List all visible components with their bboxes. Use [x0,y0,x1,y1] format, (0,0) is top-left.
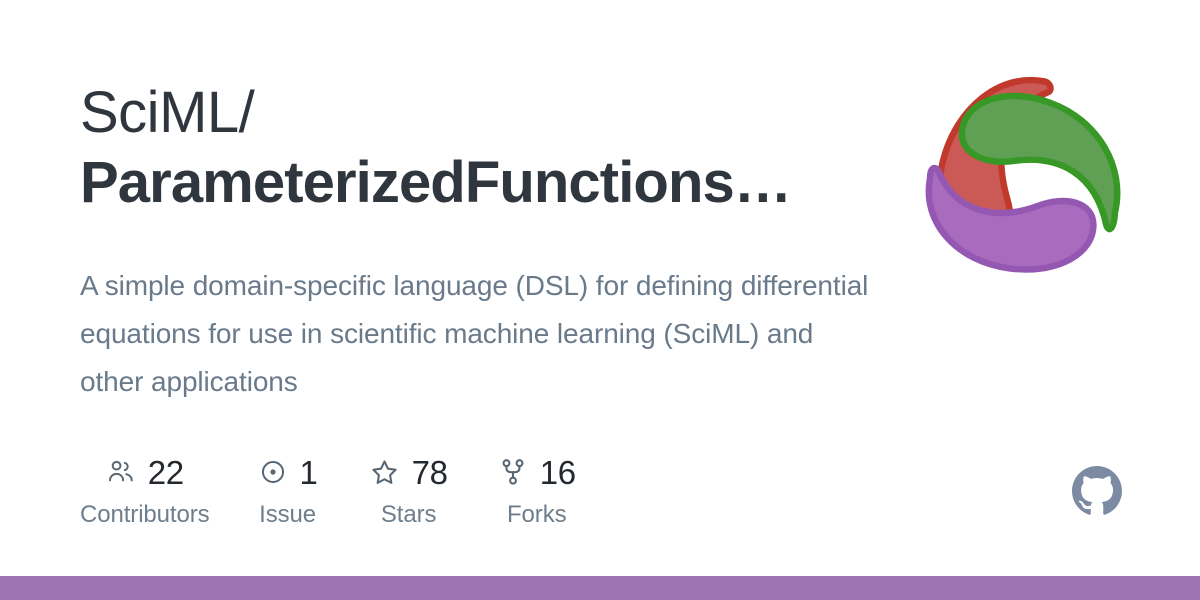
stat-issues-value: 1 [300,456,318,489]
stat-forks-top: 16 [498,452,576,492]
repository-stats: 22 Contributors 1 Issue [80,452,576,528]
repo-forked-icon [498,457,528,487]
stat-issues-top: 1 [258,452,318,492]
stat-forks[interactable]: 16 Forks [498,452,576,528]
github-mark-icon [1072,466,1122,516]
stat-issues-label: Issue [259,502,316,528]
issue-opened-icon [258,457,288,487]
repository-owner[interactable]: SciML/ [80,78,870,148]
stat-forks-label: Forks [507,502,567,528]
stat-stars-top: 78 [370,452,448,492]
stat-stars-label: Stars [381,502,437,528]
social-preview-card: SciML/ ParameterizedFunctions… A simple … [0,0,1200,600]
stat-forks-value: 16 [540,456,576,489]
repository-description: A simple domain-specific language (DSL) … [80,262,870,406]
stat-contributors[interactable]: 22 Contributors [80,452,210,528]
star-icon [370,457,400,487]
sciml-triskelion-logo [915,62,1130,277]
stat-contributors-top: 22 [106,452,184,492]
people-icon [106,457,136,487]
bottom-accent-bar [0,576,1200,600]
stat-stars[interactable]: 78 Stars [370,452,448,528]
repository-name[interactable]: ParameterizedFunctions… [80,148,870,218]
repository-title: SciML/ ParameterizedFunctions… [80,78,870,218]
stat-issues[interactable]: 1 Issue [258,452,318,528]
stat-contributors-value: 22 [148,456,184,489]
stat-stars-value: 78 [412,456,448,489]
stat-contributors-label: Contributors [80,502,210,528]
